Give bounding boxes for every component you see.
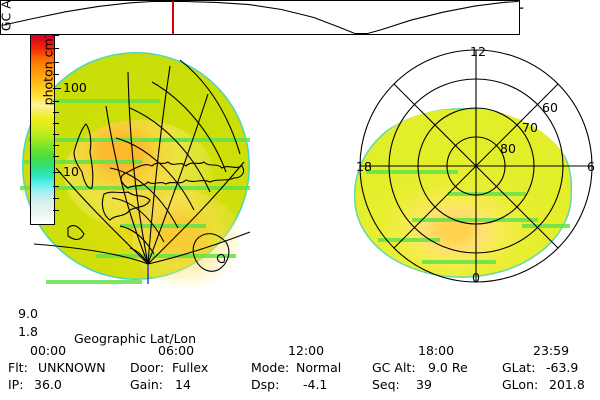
- status-readout: Flt: UNKNOWN Door: Fullex Mode: Normal G…: [8, 360, 600, 394]
- colorbar-label-10: 10: [63, 164, 79, 179]
- mlt-label-6: 6: [587, 159, 595, 174]
- status-flt-label: Flt:: [8, 360, 28, 375]
- status-gcalt-value: 9.0 Re: [428, 360, 468, 375]
- status-row-2: IP: 36.0 Gain: 14 Dsp: -4.1 Seq: 39 GLon…: [8, 377, 600, 394]
- mlat-label-80: 80: [500, 141, 516, 156]
- time-tick-2359: 23:59: [533, 343, 569, 358]
- mlt-label-12: 12: [470, 44, 486, 59]
- mlt-label-0: 0: [472, 270, 480, 285]
- time-tick-0000: 00:00: [30, 343, 66, 358]
- status-row-1: Flt: UNKNOWN Door: Fullex Mode: Normal G…: [8, 360, 600, 377]
- status-glon-label: GLon:: [502, 377, 538, 392]
- status-door-value: Fullex: [172, 360, 208, 375]
- apex-mlt-panel[interactable]: 12 6 0 18 60 70 80 Apex MLat/MLT: [352, 42, 600, 290]
- status-ip-label: IP:: [8, 377, 23, 392]
- status-gain-value: 14: [175, 377, 191, 392]
- current-time-marker: [172, 1, 174, 34]
- apex-polar-grid-overlay: [352, 42, 600, 290]
- strip-ytick-max: 9.0: [4, 306, 38, 321]
- status-flt-value: UNKNOWN: [38, 360, 106, 375]
- mlat-label-60: 60: [542, 100, 558, 115]
- altitude-curve: [0, 0, 520, 35]
- status-ip-value: 36.0: [34, 377, 62, 392]
- time-tick-0600: 06:00: [158, 343, 194, 358]
- colorbar-tick-10: [53, 172, 61, 173]
- status-gcalt-label: GC Alt:: [372, 360, 416, 375]
- status-dsp-value: -4.1: [303, 377, 327, 392]
- time-tick-1200: 12:00: [288, 343, 324, 358]
- status-dsp-label: Dsp:: [251, 377, 279, 392]
- status-door-label: Door:: [130, 360, 164, 375]
- status-seq-label: Seq:: [372, 377, 400, 392]
- mlt-label-18: 18: [356, 159, 372, 174]
- status-seq-value: 39: [416, 377, 432, 392]
- status-glon-value: 201.8: [549, 377, 585, 392]
- strip-ytick-min: 1.8: [4, 324, 38, 339]
- time-tick-1800: 18:00: [418, 343, 454, 358]
- status-gain-label: Gain:: [130, 377, 163, 392]
- status-mode-value: Normal: [296, 360, 341, 375]
- colorbar-label-100: 100: [63, 80, 87, 95]
- status-mode-label: Mode:: [251, 360, 289, 375]
- status-glat-value: -63.9: [546, 360, 578, 375]
- strip-chart-ylabel: GC Alt: [0, 0, 14, 44]
- mlat-label-70: 70: [522, 120, 538, 135]
- status-glat-label: GLat:: [502, 360, 535, 375]
